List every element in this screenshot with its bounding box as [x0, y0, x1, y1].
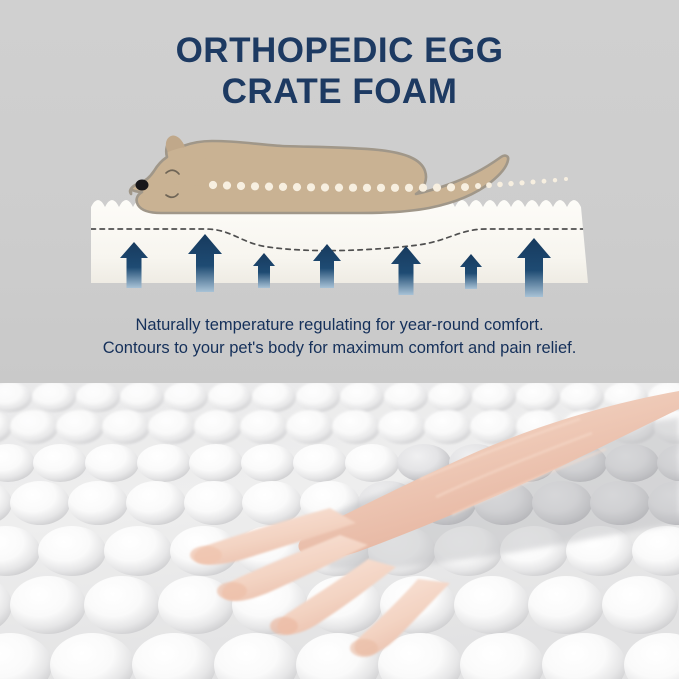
- product-feature-image: ORTHOPEDIC EGG CRATE FOAM: [0, 0, 679, 679]
- dog-nose: [136, 180, 149, 191]
- caption-line-1: Naturally temperature regulating for yea…: [0, 314, 679, 337]
- foam-photo-panel: [0, 383, 679, 679]
- dog-on-foam-diagram: [0, 125, 679, 305]
- page-title: ORTHOPEDIC EGG CRATE FOAM: [0, 30, 679, 112]
- title-line-2: CRATE FOAM: [0, 71, 679, 112]
- feature-caption: Naturally temperature regulating for yea…: [0, 314, 679, 360]
- infographic-panel: ORTHOPEDIC EGG CRATE FOAM: [0, 0, 679, 383]
- egg-crate-foam-photo: [0, 383, 679, 679]
- caption-line-2: Contours to your pet's body for maximum …: [0, 337, 679, 360]
- title-line-1: ORTHOPEDIC EGG: [0, 30, 679, 71]
